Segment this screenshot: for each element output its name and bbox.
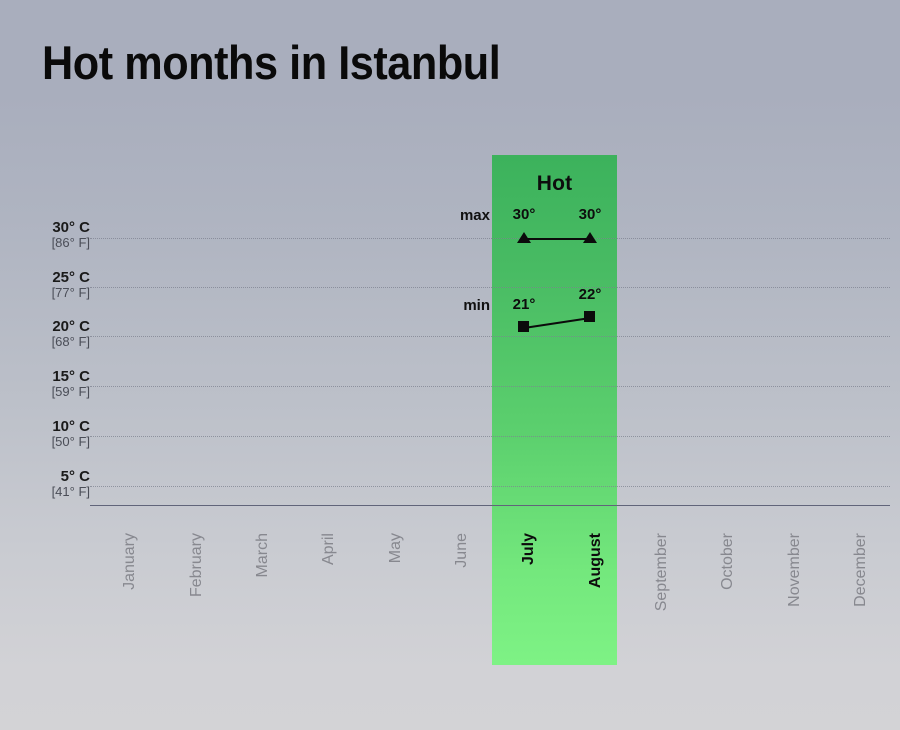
x-label-may: May <box>387 533 405 653</box>
x-label-august: August <box>587 533 605 653</box>
x-label-february: February <box>188 533 206 653</box>
min-value-august: 22° <box>564 286 616 303</box>
x-label-january: January <box>121 533 139 653</box>
y-tick-15-fahrenheit: [59° F] <box>52 385 90 399</box>
x-label-december: December <box>852 533 870 653</box>
y-tick-20: 20° C [68° F] <box>52 319 90 348</box>
y-tick-20-fahrenheit: [68° F] <box>52 335 90 349</box>
y-tick-25-celsius: 25° C <box>52 270 90 286</box>
y-tick-25-fahrenheit: [77° F] <box>52 286 90 300</box>
y-tick-30: 30° C [86° F] <box>52 220 90 249</box>
y-tick-5-fahrenheit: [41° F] <box>52 485 90 499</box>
x-label-march: March <box>254 533 272 653</box>
chart-canvas: Hot months in Istanbul Hot 30° C [86° F]… <box>0 0 900 730</box>
x-label-july: July <box>520 533 538 653</box>
max-marker-july <box>517 232 531 243</box>
y-tick-10: 10° C [50° F] <box>52 419 90 448</box>
max-marker-august <box>583 232 597 243</box>
y-tick-25: 25° C [77° F] <box>52 270 90 299</box>
min-value-july: 21° <box>498 296 550 313</box>
max-value-august: 30° <box>564 206 616 223</box>
x-label-november: November <box>786 533 804 653</box>
x-label-october: October <box>719 533 737 653</box>
gridline-15 <box>90 386 890 387</box>
plot-area: Hot 30° C [86° F] 25° C [77° F] 20° C [6… <box>0 0 900 730</box>
y-tick-5-celsius: 5° C <box>52 469 90 485</box>
min-marker-july <box>518 321 529 332</box>
gridline-10 <box>90 436 890 437</box>
y-tick-10-celsius: 10° C <box>52 419 90 435</box>
x-label-september: September <box>653 533 671 653</box>
y-tick-15: 15° C [59° F] <box>52 369 90 398</box>
y-tick-20-celsius: 20° C <box>52 319 90 335</box>
max-series-connector <box>524 238 590 240</box>
gridline-25 <box>90 287 890 288</box>
y-tick-5: 5° C [41° F] <box>52 469 90 498</box>
series-label-max: max <box>430 207 490 224</box>
min-marker-august <box>584 311 595 322</box>
max-value-july: 30° <box>498 206 550 223</box>
series-label-min: min <box>430 297 490 314</box>
y-tick-15-celsius: 15° C <box>52 369 90 385</box>
gridline-5 <box>90 486 890 487</box>
y-tick-30-celsius: 30° C <box>52 220 90 236</box>
x-axis-line <box>90 505 890 506</box>
highlight-band-label: Hot <box>492 172 617 196</box>
y-tick-30-fahrenheit: [86° F] <box>52 236 90 250</box>
x-label-april: April <box>320 533 338 653</box>
y-tick-10-fahrenheit: [50° F] <box>52 435 90 449</box>
x-label-june: June <box>453 533 471 653</box>
gridline-30 <box>90 238 890 239</box>
gridline-20 <box>90 336 890 337</box>
